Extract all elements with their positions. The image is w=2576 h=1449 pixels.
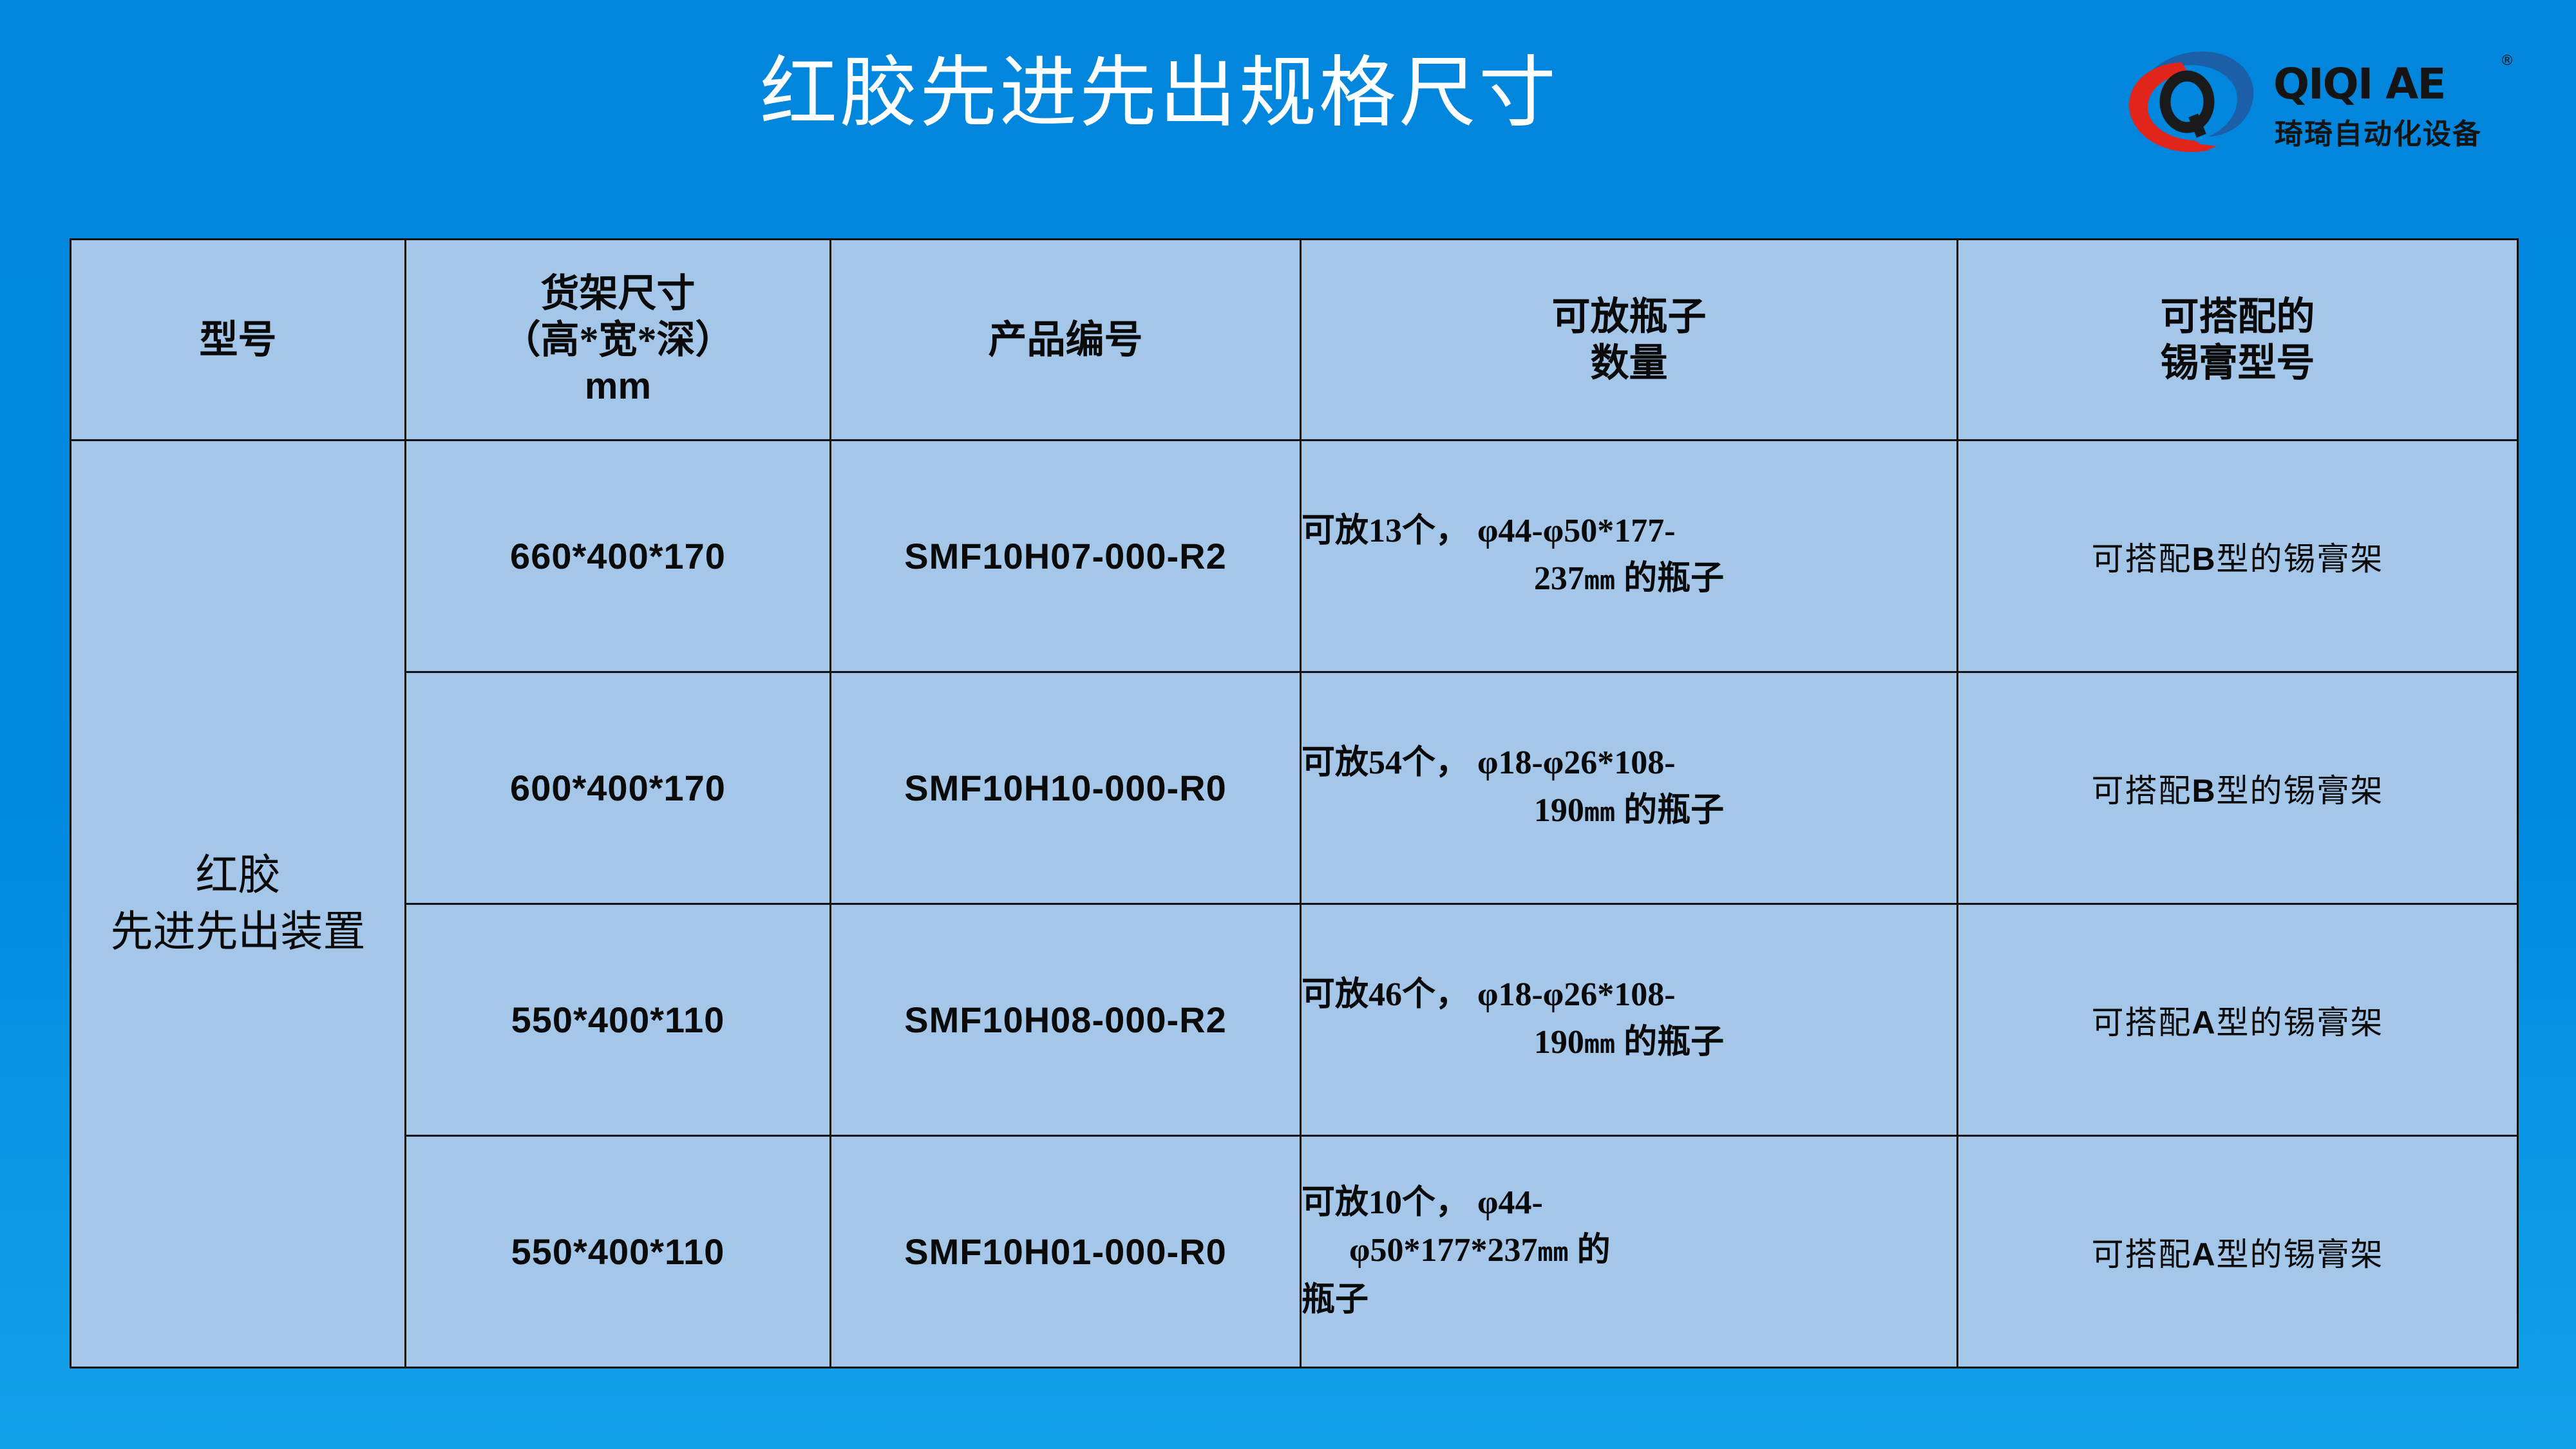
paste-suffix: 型的锡膏架	[2217, 1236, 2384, 1273]
cell-paste-type: 可搭配B型的锡膏架	[1958, 672, 2518, 904]
logo-brand-text: QIQI AE	[2273, 59, 2445, 109]
cell-bottle-qty: 可放54个， φ18-φ26*108- 190mm 的瓶子	[1301, 672, 1958, 904]
cell-paste-type: 可搭配A型的锡膏架	[1958, 1136, 2518, 1368]
cell-bottle-qty: 可放46个， φ18-φ26*108- 190mm 的瓶子	[1301, 904, 1958, 1136]
cell-product-code: SMF10H08-000-R2	[831, 904, 1301, 1136]
cell-shelf-size: 550*400*110	[406, 1136, 831, 1368]
qty-line: 可放10个， φ44-	[1302, 1179, 1956, 1227]
paste-type-letter: B	[2192, 773, 2216, 809]
registered-trademark-icon: ®	[2500, 53, 2514, 69]
logo-subtitle-text: 琦琦自动化设备	[2275, 111, 2482, 152]
header-paste-line1: 可搭配的	[1958, 294, 2517, 340]
qty-line: 可放46个， φ18-φ26*108-	[1302, 971, 1956, 1019]
page-title: 红胶先进先出规格尺寸	[451, 45, 1868, 142]
table-row: 550*400*110 SMF10H08-000-R2 可放46个， φ18-φ…	[71, 904, 2518, 1136]
model-merged-cell: 红胶 先进先出装置	[71, 440, 406, 1368]
paste-suffix: 型的锡膏架	[2217, 541, 2384, 577]
header-model: 型号	[71, 240, 406, 440]
paste-type-letter: A	[2192, 1005, 2216, 1041]
cell-bottle-qty: 可放13个， φ44-φ50*177- 237mm 的瓶子	[1301, 440, 1958, 672]
header-bottle-qty-line2: 数量	[1302, 340, 1956, 386]
qty-line: 可放54个， φ18-φ26*108-	[1302, 739, 1956, 787]
logo-wordmark: QIQI AE ® 琦琦自动化设备	[2273, 48, 2531, 157]
cell-shelf-size: 600*400*170	[406, 672, 831, 904]
table-row: 红胶 先进先出装置 660*400*170 SMF10H07-000-R2 可放…	[71, 440, 2518, 672]
cell-bottle-qty: 可放10个， φ44- φ50*177*237mm 的 瓶子	[1301, 1136, 1958, 1368]
specification-table: 型号 货架尺寸 （高*宽*深） mm 产品编号 可放瓶子 数量 可搭配的 锡膏型…	[70, 238, 2519, 1368]
header-shelf-size-line1: 货架尺寸	[406, 270, 829, 317]
paste-prefix: 可搭配	[2091, 1005, 2192, 1041]
cell-product-code: SMF10H01-000-R0	[831, 1136, 1301, 1368]
header-shelf-size: 货架尺寸 （高*宽*深） mm	[406, 240, 831, 440]
header-shelf-size-unit: mm	[406, 363, 829, 410]
header-bottle-qty-line1: 可放瓶子	[1302, 294, 1956, 340]
paste-prefix: 可搭配	[2091, 1236, 2192, 1273]
header-product-code-label: 产品编号	[989, 319, 1143, 361]
qiqi-logo-mark-icon	[2119, 44, 2267, 160]
table-row: 550*400*110 SMF10H01-000-R0 可放10个， φ44- …	[71, 1136, 2518, 1368]
model-line2: 先进先出装置	[71, 904, 404, 961]
qty-line: 瓶子	[1302, 1276, 1956, 1324]
cell-paste-type: 可搭配B型的锡膏架	[1958, 440, 2518, 672]
cell-shelf-size: 660*400*170	[406, 440, 831, 672]
cell-paste-type: 可搭配A型的锡膏架	[1958, 904, 2518, 1136]
header-model-label: 型号	[200, 319, 277, 361]
header-shelf-size-line2: （高*宽*深）	[406, 317, 829, 363]
cell-product-code: SMF10H10-000-R0	[831, 672, 1301, 904]
paste-suffix: 型的锡膏架	[2217, 1005, 2384, 1041]
cell-product-code: SMF10H07-000-R2	[831, 440, 1301, 672]
qty-line: φ50*177*237mm 的	[1302, 1227, 1956, 1276]
paste-prefix: 可搭配	[2091, 541, 2192, 577]
paste-prefix: 可搭配	[2091, 773, 2192, 809]
qty-line: 237mm 的瓶子	[1302, 555, 1956, 605]
table-header-row: 型号 货架尺寸 （高*宽*深） mm 产品编号 可放瓶子 数量 可搭配的 锡膏型…	[71, 240, 2518, 440]
table-row: 600*400*170 SMF10H10-000-R0 可放54个， φ18-φ…	[71, 672, 2518, 904]
paste-suffix: 型的锡膏架	[2217, 773, 2384, 809]
qty-line: 190mm 的瓶子	[1302, 787, 1956, 837]
qty-line: 190mm 的瓶子	[1302, 1019, 1956, 1068]
header-paste-line2: 锡膏型号	[1958, 340, 2517, 386]
header-paste-type: 可搭配的 锡膏型号	[1958, 240, 2518, 440]
paste-type-letter: A	[2192, 1236, 2216, 1273]
header-product-code: 产品编号	[831, 240, 1301, 440]
model-line1: 红胶	[71, 848, 404, 904]
qty-line: 可放13个， φ44-φ50*177-	[1302, 507, 1956, 555]
cell-shelf-size: 550*400*110	[406, 904, 831, 1136]
header-bottle-qty: 可放瓶子 数量	[1301, 240, 1958, 440]
paste-type-letter: B	[2192, 541, 2216, 577]
company-logo: QIQI AE ® 琦琦自动化设备	[2119, 44, 2531, 160]
